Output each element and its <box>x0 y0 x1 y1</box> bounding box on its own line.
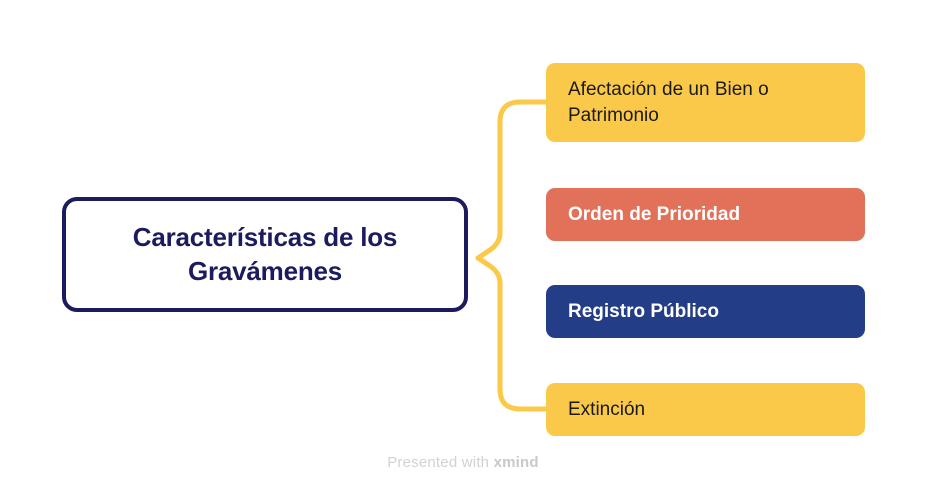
child-topic-node-afectacion[interactable]: Afectación de un Bien o Patrimonio <box>546 63 865 142</box>
brace-apex-connector <box>478 233 500 258</box>
child-topic-node-extincion[interactable]: Extinción <box>546 383 865 436</box>
watermark-prefix: Presented with <box>387 454 493 471</box>
brace-apex-connector-lower <box>478 258 500 283</box>
connector-to-child-0 <box>500 102 546 233</box>
watermark-brand: xmind <box>494 454 539 471</box>
connector-to-child-3 <box>500 283 546 409</box>
watermark: Presented with xmind <box>0 454 926 471</box>
child-topic-label: Registro Público <box>568 299 719 325</box>
child-topic-label: Afectación de un Bien o Patrimonio <box>568 77 769 128</box>
root-topic-label: Características de los Gravámenes <box>133 221 397 288</box>
child-topic-label: Extinción <box>568 397 645 423</box>
mindmap-canvas: Características de los Gravámenes Afecta… <box>0 0 926 498</box>
child-topic-label: Orden de Prioridad <box>568 202 740 228</box>
root-topic-node[interactable]: Características de los Gravámenes <box>62 197 468 312</box>
child-topic-node-orden-de-prioridad[interactable]: Orden de Prioridad <box>546 188 865 241</box>
child-topic-node-registro-publico[interactable]: Registro Público <box>546 285 865 338</box>
